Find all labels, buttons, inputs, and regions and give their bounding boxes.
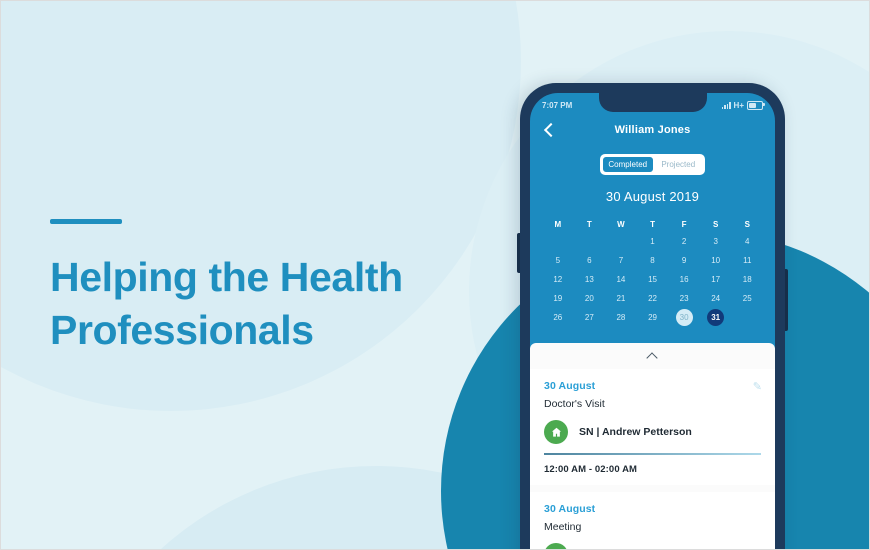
calendar-day[interactable]: 7 — [605, 251, 637, 270]
calendar-day[interactable]: 15 — [637, 270, 669, 289]
weekday-header: W — [605, 216, 637, 232]
events-sheet: ✎ 30 August Doctor's Visit SN | Andrew P… — [530, 343, 775, 550]
calendar-day[interactable]: 29 — [637, 308, 669, 327]
calendar-day[interactable]: 25 — [731, 289, 763, 308]
calendar-day-empty — [605, 232, 637, 251]
event-person: SN | Andrew Petterson — [579, 426, 692, 438]
calendar-day[interactable]: 2 — [668, 232, 700, 251]
calendar-day[interactable]: 13 — [574, 270, 606, 289]
calendar-day-empty — [731, 308, 763, 327]
network-type-label: H+ — [734, 101, 744, 110]
calendar-day[interactable]: 6 — [574, 251, 606, 270]
weekday-header: M — [542, 216, 574, 232]
calendar-day[interactable]: 8 — [637, 251, 669, 270]
signature-icon[interactable]: ✎ — [753, 380, 762, 393]
calendar-day[interactable]: 14 — [605, 270, 637, 289]
headline-block: Helping the HealthProfessionals — [50, 219, 470, 357]
event-card[interactable]: 30 August Meeting HHA | Chrish Hoper — [530, 492, 775, 550]
weekday-header: S — [700, 216, 732, 232]
calendar-day[interactable]: 27 — [574, 308, 606, 327]
calendar-day-selected[interactable]: 31 — [700, 308, 732, 327]
calendar-day-selected-today[interactable]: 30 — [668, 308, 700, 327]
home-icon — [544, 543, 568, 550]
event-person-row: HHA | Chrish Hoper — [544, 543, 761, 550]
headline-line-1: Helping the Health — [50, 254, 403, 300]
hero-banner: Helping the HealthProfessionals 7:07 PM … — [0, 0, 870, 550]
phone-notch — [599, 93, 707, 112]
tab-completed[interactable]: Completed — [602, 156, 654, 173]
signal-bars-icon — [722, 102, 731, 109]
calendar-day[interactable]: 24 — [700, 289, 732, 308]
home-icon — [544, 420, 568, 444]
calendar-day[interactable]: 26 — [542, 308, 574, 327]
calendar-day[interactable]: 3 — [700, 232, 732, 251]
event-title: Meeting — [544, 521, 761, 533]
divider — [544, 453, 761, 455]
calendar-day[interactable]: 21 — [605, 289, 637, 308]
calendar-week-row: 5 6 7 8 9 10 11 — [542, 251, 763, 270]
event-time: 12:00 AM - 02:00 AM — [544, 455, 761, 485]
calendar-day[interactable]: 20 — [574, 289, 606, 308]
tab-projected[interactable]: Projected — [654, 156, 704, 173]
calendar-day[interactable]: 1 — [637, 232, 669, 251]
weekday-header: T — [637, 216, 669, 232]
calendar-week-row: 12 13 14 15 16 17 18 — [542, 270, 763, 289]
calendar-day-empty — [574, 232, 606, 251]
calendar-day[interactable]: 22 — [637, 289, 669, 308]
calendar-day[interactable]: 10 — [700, 251, 732, 270]
event-person-row: SN | Andrew Petterson — [544, 420, 761, 453]
volume-button[interactable] — [517, 233, 520, 273]
status-bar-time: 7:07 PM — [542, 101, 572, 110]
weekday-header: T — [574, 216, 606, 232]
accent-rule — [50, 219, 122, 224]
calendar-day[interactable]: 17 — [700, 270, 732, 289]
event-date: 30 August — [544, 380, 761, 392]
segmented-control[interactable]: Completed Projected — [600, 154, 705, 175]
calendar-day-label: 30 — [676, 309, 693, 326]
calendar-day[interactable]: 16 — [668, 270, 700, 289]
app-nav-bar: William Jones — [530, 115, 775, 145]
event-title: Doctor's Visit — [544, 398, 761, 410]
page-title: Helping the HealthProfessionals — [50, 251, 470, 357]
calendar-week-row: 1 2 3 4 — [542, 232, 763, 251]
calendar-grid: M T W T F S S 1 2 3 4 — [542, 216, 763, 327]
event-card[interactable]: ✎ 30 August Doctor's Visit SN | Andrew P… — [530, 369, 775, 485]
weekday-header: S — [731, 216, 763, 232]
calendar-day[interactable]: 28 — [605, 308, 637, 327]
nav-title: William Jones — [530, 124, 775, 136]
calendar-week-row: 26 27 28 29 30 31 — [542, 308, 763, 327]
calendar-day-empty — [542, 232, 574, 251]
calendar-weekday-row: M T W T F S S — [542, 216, 763, 232]
event-date: 30 August — [544, 503, 761, 515]
headline-line-2: Professionals — [50, 307, 314, 353]
calendar-day[interactable]: 18 — [731, 270, 763, 289]
weekday-header: F — [668, 216, 700, 232]
phone-mockup: 7:07 PM H+ William Jones Completed Proje… — [520, 83, 785, 550]
chevron-up-icon[interactable] — [530, 343, 775, 369]
calendar-day[interactable]: 11 — [731, 251, 763, 270]
status-bar: 7:07 PM H+ — [530, 93, 775, 115]
power-button[interactable] — [785, 269, 788, 331]
calendar-day[interactable]: 23 — [668, 289, 700, 308]
calendar-week-row: 19 20 21 22 23 24 25 — [542, 289, 763, 308]
calendar-day[interactable]: 5 — [542, 251, 574, 270]
calendar-day-label: 31 — [707, 309, 724, 326]
status-bar-indicators: H+ — [722, 101, 763, 110]
calendar-day[interactable]: 19 — [542, 289, 574, 308]
calendar-title: 30 August 2019 — [530, 189, 775, 204]
phone-screen: 7:07 PM H+ William Jones Completed Proje… — [530, 93, 775, 550]
calendar-day[interactable]: 12 — [542, 270, 574, 289]
calendar-day[interactable]: 9 — [668, 251, 700, 270]
battery-icon — [747, 101, 763, 110]
calendar-day[interactable]: 4 — [731, 232, 763, 251]
